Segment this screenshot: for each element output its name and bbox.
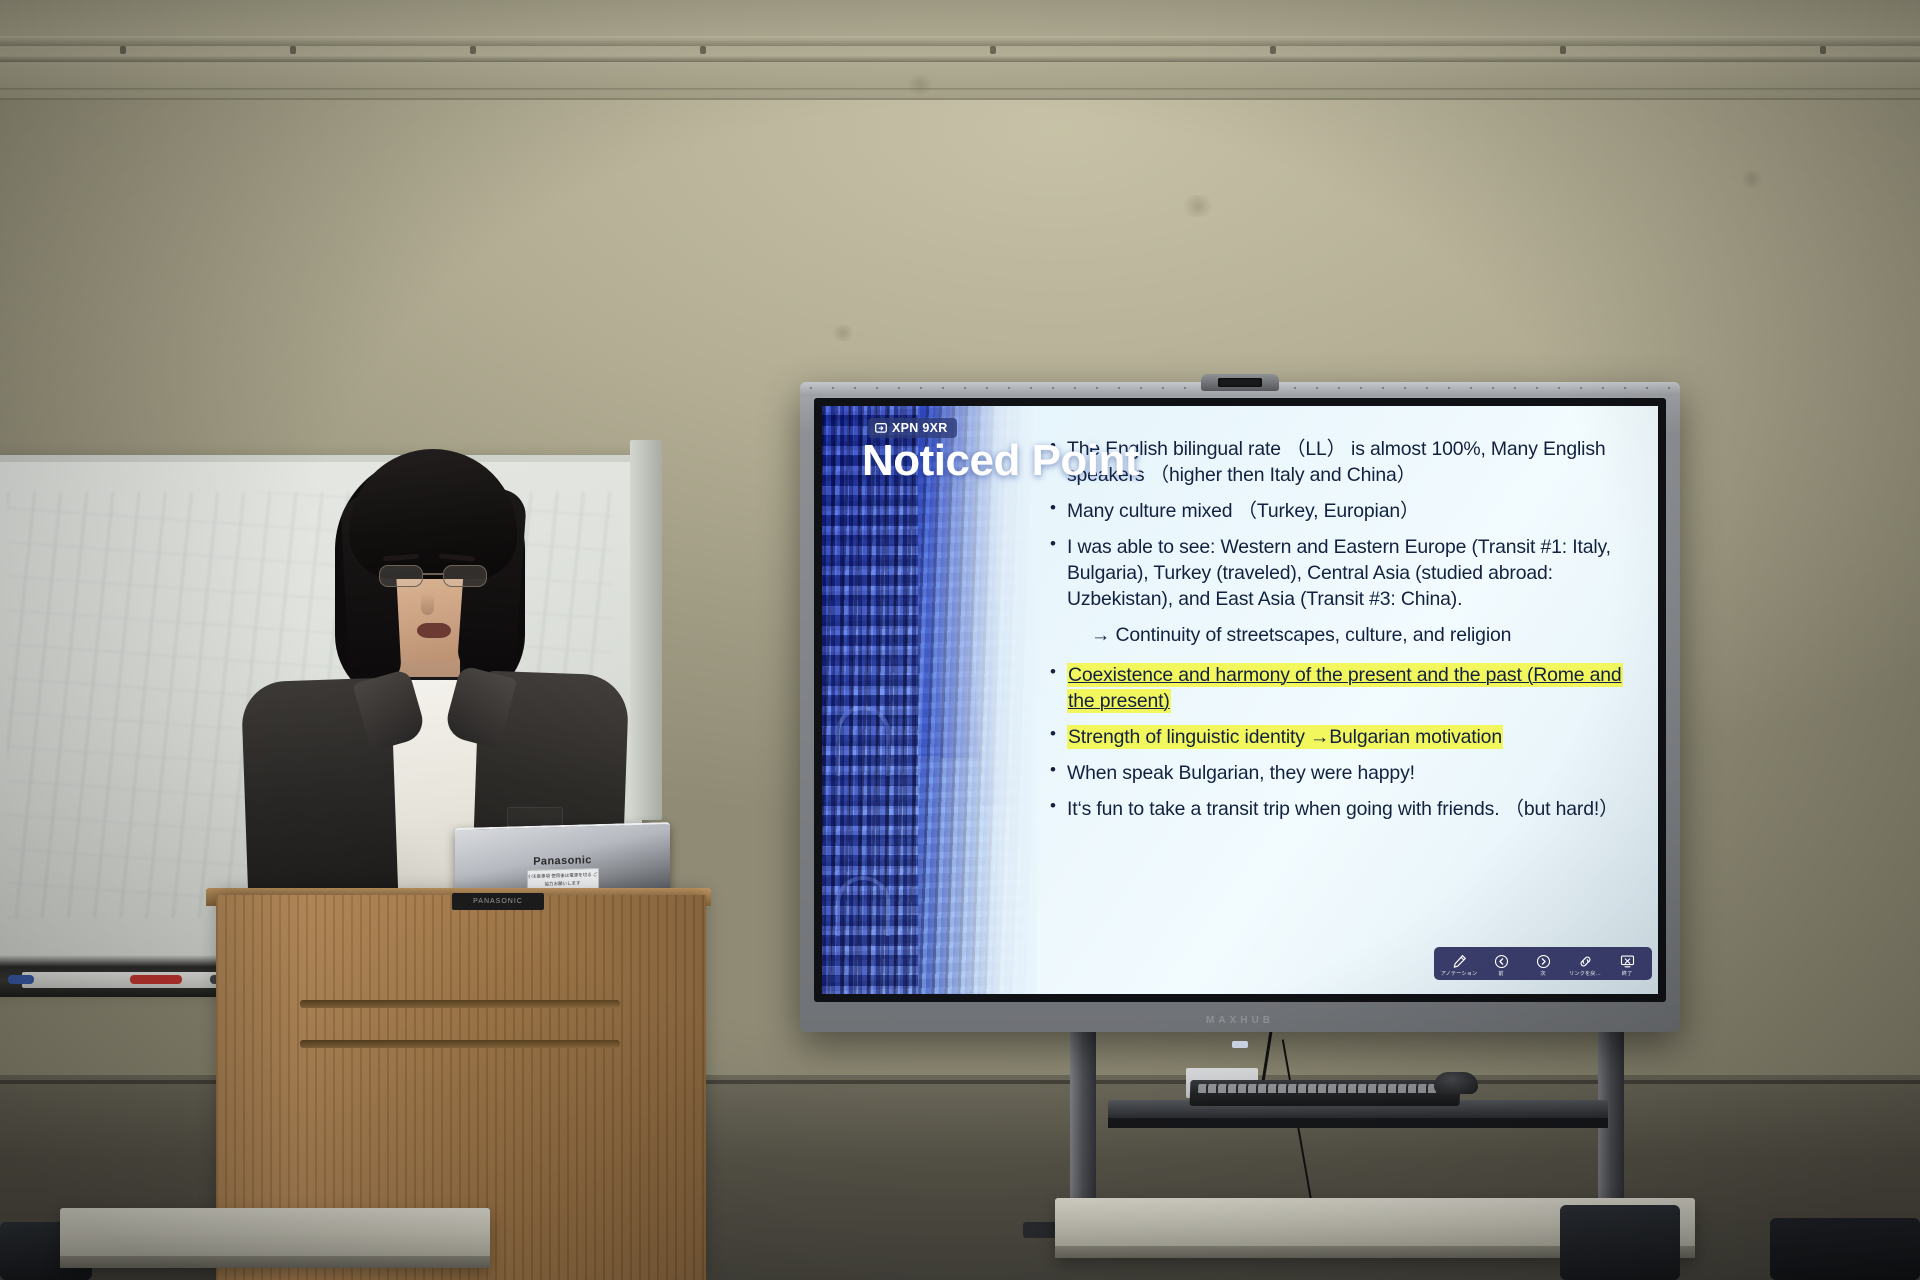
link-icon (1578, 953, 1593, 969)
wall-mark (905, 75, 935, 95)
display-brand-label: MAXHUB (1206, 1015, 1274, 1026)
toolbar-button-label: 終了 (1622, 970, 1633, 977)
toolbar-button-label: リンクを戻… (1569, 970, 1601, 977)
slide-title: Noticed Point (862, 436, 1139, 486)
podium-brand-plate: PANASONIC (452, 893, 544, 910)
powerpoint-slide[interactable]: XPN 9XR Noticed Point The English biling… (822, 406, 1658, 994)
toolbar-button-end-show[interactable]: 終了 (1606, 951, 1648, 978)
slide-bullet: When speak Bulgarian, they were happy! (1049, 760, 1642, 786)
display-power-indicator[interactable] (1232, 1041, 1248, 1048)
slide-bullet: I was able to see: Western and Eastern E… (1049, 534, 1642, 612)
lens-left (379, 565, 423, 587)
hair-fringe (349, 449, 517, 579)
chair (1560, 1205, 1680, 1280)
slide-sub-bullet: → Continuity of streetscapes, culture, a… (1049, 622, 1642, 648)
pen-icon (1452, 953, 1467, 969)
highlighted-text: Strength of linguistic identity →Bulgari… (1067, 725, 1503, 749)
upper-wall-band (0, 0, 1920, 100)
prev-arrow-icon (1494, 953, 1509, 969)
wall-mark (1180, 195, 1216, 217)
slide-bullet: Strength of linguistic identity →Bulgari… (1049, 724, 1642, 750)
display-bezel: XPN 9XR Noticed Point The English biling… (814, 398, 1666, 1002)
toolbar-button-label: 次 (1540, 970, 1545, 977)
slide-body: The English bilingual rate （LL） is almos… (1037, 406, 1658, 994)
toolbar-button-prev-arrow[interactable]: 前 (1480, 951, 1522, 978)
slide-bullet: It‘s fun to take a transit trip when goi… (1049, 796, 1642, 822)
toolbar-button-link[interactable]: リンクを戻… (1564, 951, 1606, 978)
glasses-icon (377, 565, 489, 589)
podium-groove-lower (300, 1040, 620, 1048)
desk-edge (60, 1256, 490, 1268)
webcam-led-icon (1235, 380, 1245, 384)
rail-bracket (1820, 46, 1826, 54)
classroom-scene: Panasonic 小注意事項 使用後は電源を切る ご協力お願いします PANA… (0, 0, 1920, 1280)
laptop-brand-label: Panasonic (533, 854, 592, 868)
nose (421, 593, 434, 615)
wireless-mouse[interactable] (1434, 1072, 1478, 1094)
wall-mark (830, 325, 856, 341)
podium-brand-text: PANASONIC (473, 898, 523, 905)
rail-bracket (120, 46, 126, 54)
rail-bracket (1560, 46, 1566, 54)
cast-badge: XPN 9XR (868, 418, 957, 438)
whiteboard-side-panel (630, 440, 662, 820)
rail-bracket (290, 46, 296, 54)
marker-red[interactable] (130, 975, 182, 984)
rail-bracket (990, 46, 996, 54)
keyboard-keys (1198, 1084, 1452, 1093)
student-desk-left (60, 1208, 490, 1268)
glasses-bridge (423, 573, 443, 575)
ceiling-rail-lower (0, 56, 1920, 62)
end-show-icon (1620, 953, 1635, 969)
podium-groove-upper (300, 1000, 620, 1008)
presentation-toolbar[interactable]: アノテーション前次リンクを戻…終了 (1434, 947, 1652, 980)
slide-bullet: Coexistence and harmony of the present a… (1049, 662, 1642, 714)
cast-badge-label: XPN 9XR (892, 421, 948, 435)
highlighted-text: Coexistence and harmony of the present a… (1067, 663, 1623, 713)
rail-bracket (470, 46, 476, 54)
ceiling-rail-upper (0, 36, 1920, 46)
slide-bullet-list: The English bilingual rate （LL） is almos… (1049, 436, 1642, 822)
display-webcam (1201, 374, 1279, 391)
rail-bracket (1270, 46, 1276, 54)
slide-photo-cathedral (822, 406, 1037, 994)
slide-bullet: Many culture mixed （Turkey, Europian） (1049, 498, 1642, 524)
wall-mark (1740, 170, 1764, 188)
toolbar-button-label: 前 (1498, 970, 1503, 977)
chair (1770, 1218, 1920, 1280)
rail-bracket (700, 46, 706, 54)
wireless-keyboard[interactable] (1190, 1080, 1461, 1106)
wall-seam (0, 88, 1920, 91)
av-shelf-lip (1108, 1118, 1608, 1128)
marker-blue[interactable] (8, 975, 34, 984)
toolbar-button-next-arrow[interactable]: 次 (1522, 951, 1564, 978)
screen-cast-icon (875, 423, 887, 434)
mouth (417, 623, 451, 638)
next-arrow-icon (1536, 953, 1551, 969)
photo-gradient-fade (928, 406, 1037, 994)
toolbar-button-pen[interactable]: アノテーション (1438, 951, 1480, 978)
lens-right (443, 565, 487, 587)
toolbar-button-label: アノテーション (1441, 970, 1477, 977)
maxhub-interactive-display[interactable]: XPN 9XR Noticed Point The English biling… (800, 382, 1680, 1032)
